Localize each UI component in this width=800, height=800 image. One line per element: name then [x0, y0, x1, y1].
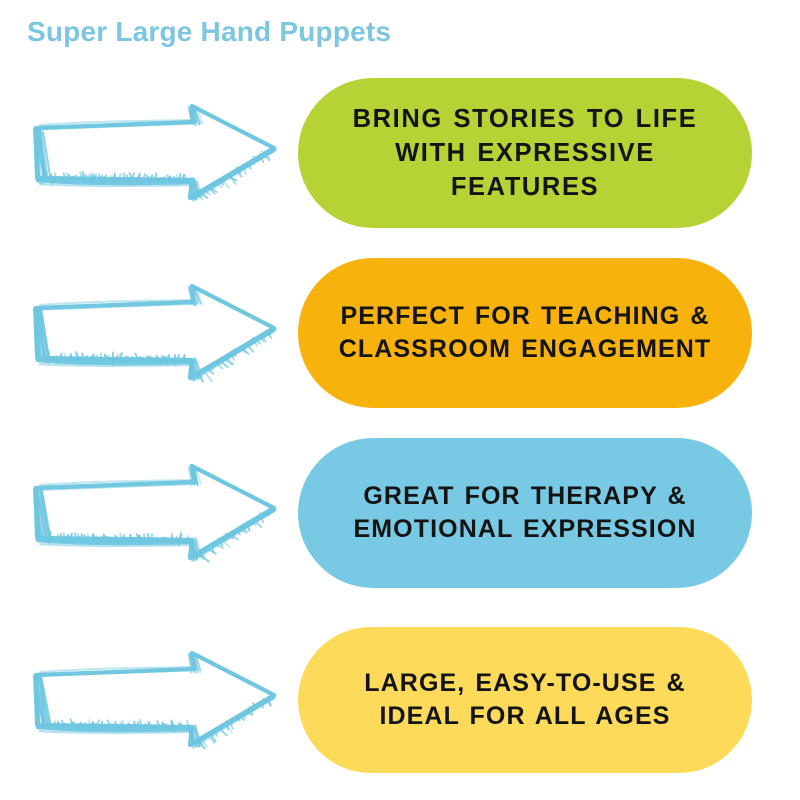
infographic-canvas: Super Large Hand Puppets BRING STORIES T… [0, 0, 800, 800]
feature-text: BRING STORIES TO LIFE WITH EXPRESSIVE FE… [324, 102, 726, 204]
hand-drawn-arrow-right-icon [22, 98, 284, 208]
feature-pill[interactable]: PERFECT FOR TEACHING & CLASSROOM ENGAGEM… [298, 258, 752, 408]
feature-row: GREAT FOR THERAPY & EMOTIONAL EXPRESSION [0, 438, 800, 588]
feature-pill[interactable]: GREAT FOR THERAPY & EMOTIONAL EXPRESSION [298, 438, 752, 588]
feature-row: BRING STORIES TO LIFE WITH EXPRESSIVE FE… [0, 78, 800, 228]
feature-row: PERFECT FOR TEACHING & CLASSROOM ENGAGEM… [0, 258, 800, 408]
feature-text: LARGE, EASY-TO-USE & IDEAL FOR ALL AGES [324, 667, 726, 734]
feature-pill[interactable]: BRING STORIES TO LIFE WITH EXPRESSIVE FE… [298, 78, 752, 228]
feature-pill[interactable]: LARGE, EASY-TO-USE & IDEAL FOR ALL AGES [298, 627, 752, 773]
feature-text: PERFECT FOR TEACHING & CLASSROOM ENGAGEM… [324, 300, 726, 367]
page-title: Super Large Hand Puppets [27, 16, 391, 48]
hand-drawn-arrow-right-icon [22, 645, 284, 755]
feature-row: LARGE, EASY-TO-USE & IDEAL FOR ALL AGES [0, 625, 800, 775]
hand-drawn-arrow-right-icon [22, 278, 284, 388]
hand-drawn-arrow-right-icon [22, 458, 284, 568]
feature-text: GREAT FOR THERAPY & EMOTIONAL EXPRESSION [324, 480, 726, 547]
